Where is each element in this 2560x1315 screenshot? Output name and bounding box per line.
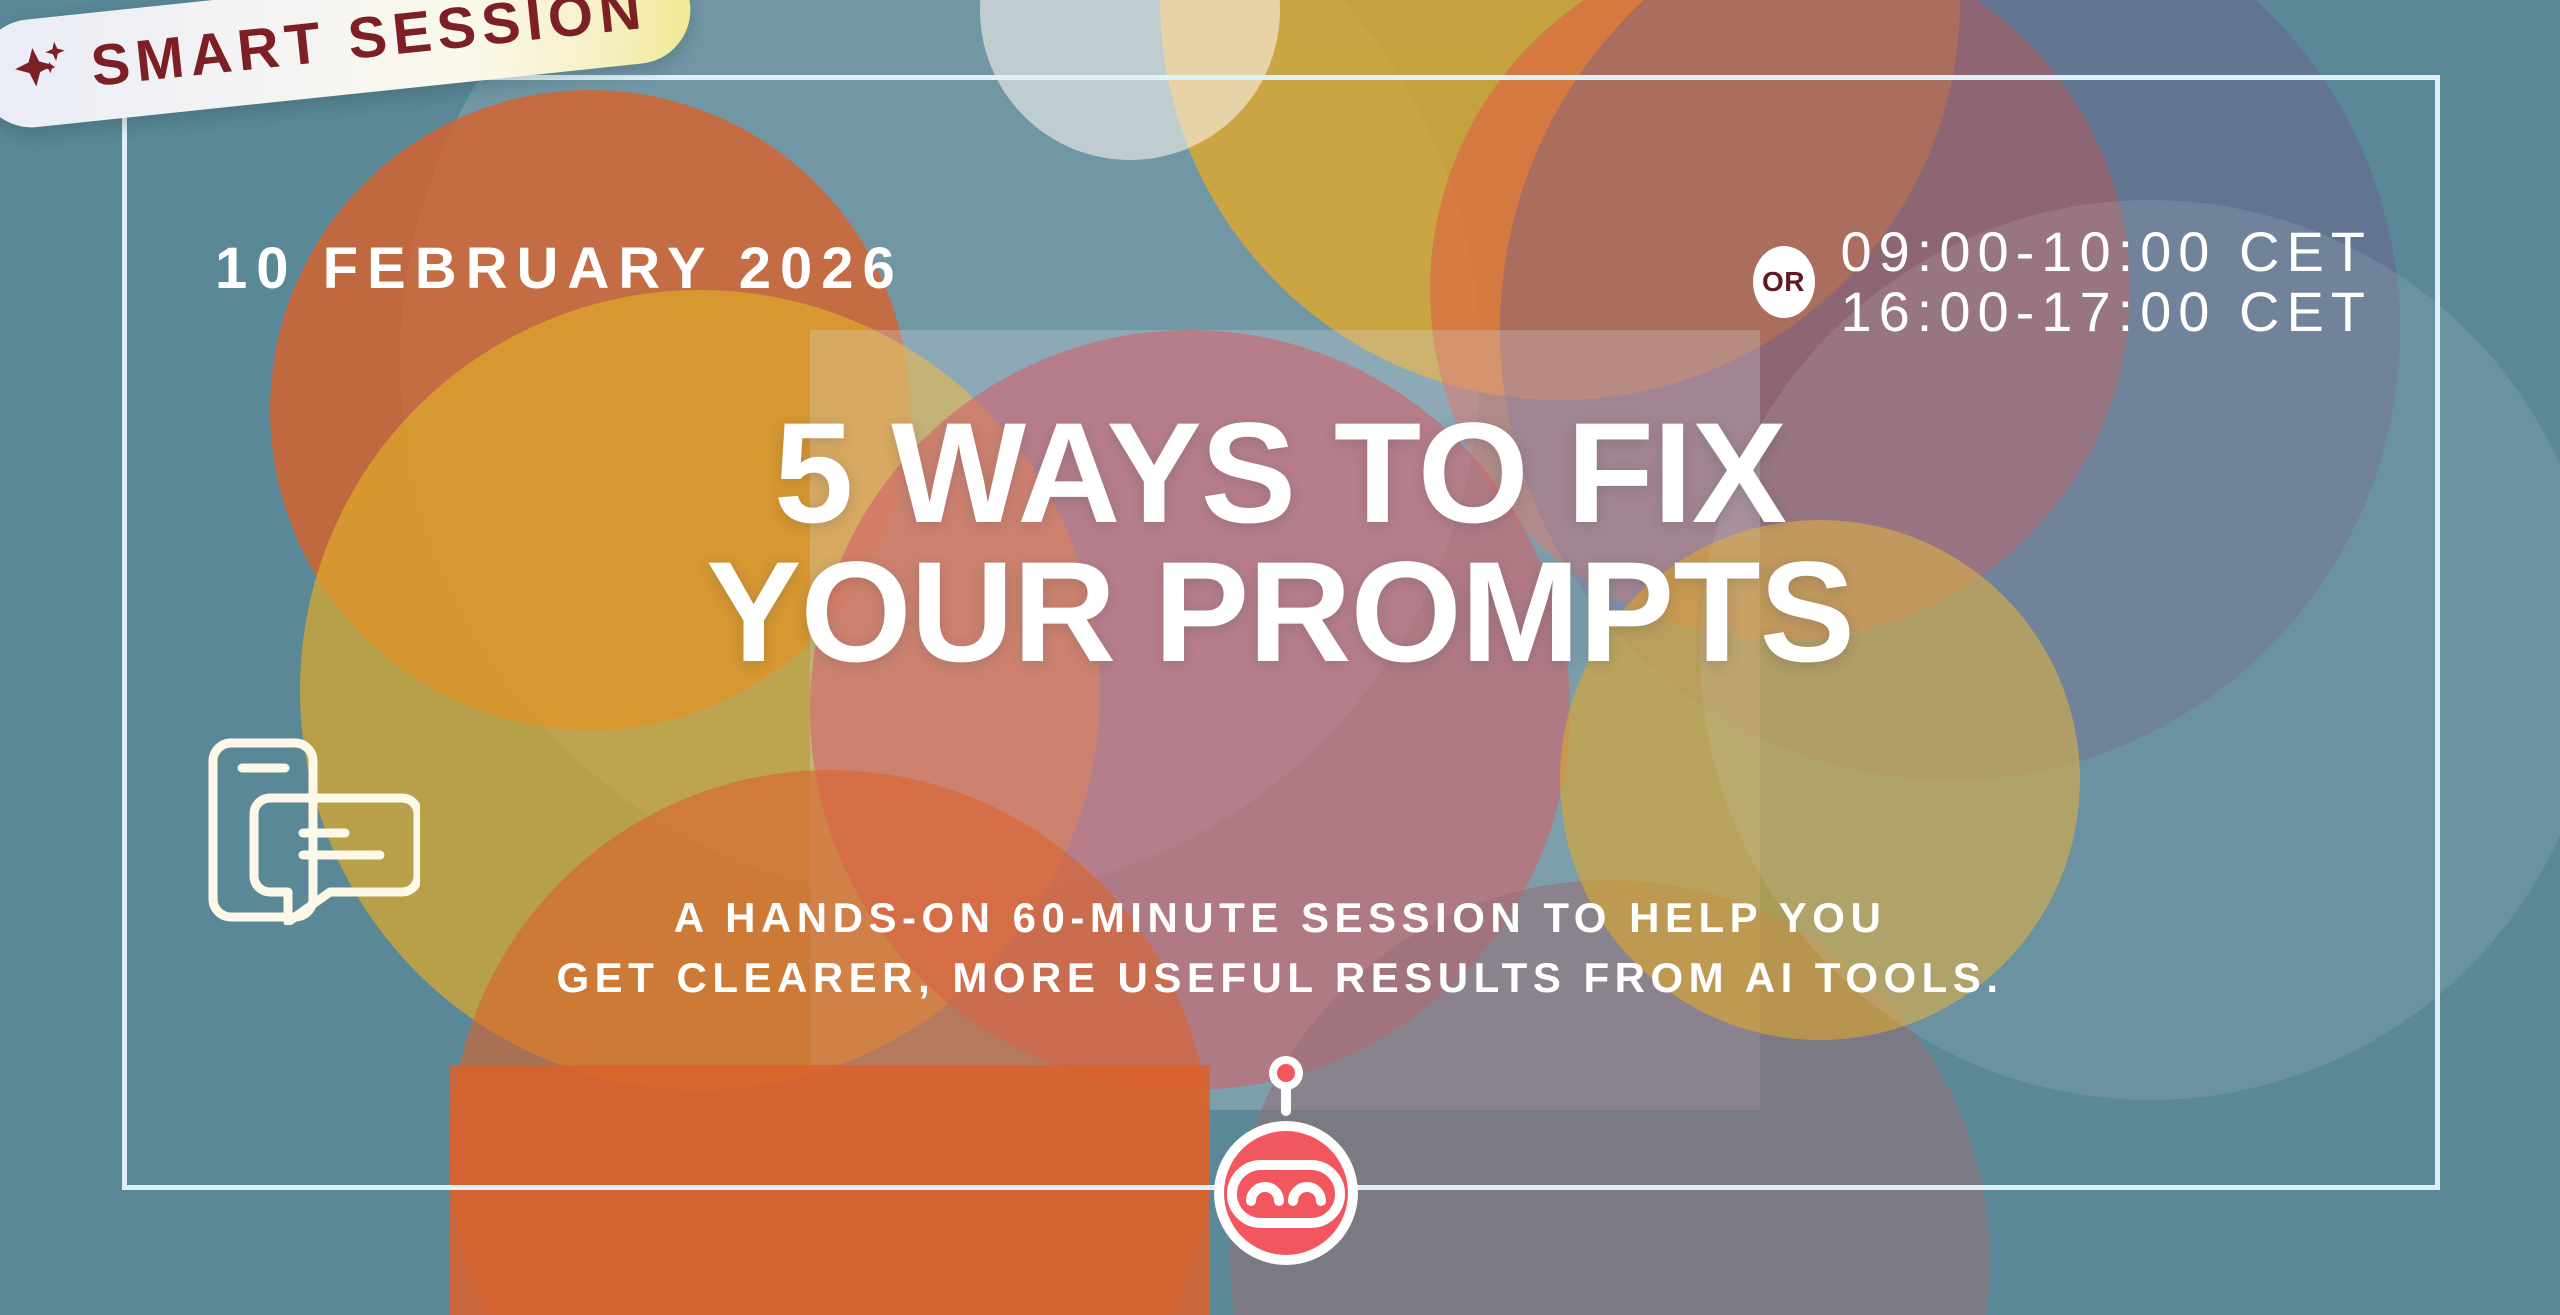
or-badge: OR xyxy=(1753,246,1815,318)
time-slot-1: 09:00-10:00 CET xyxy=(1841,222,2372,282)
subtitle-line-1: A HANDS-ON 60-MINUTE SESSION TO HELP YOU xyxy=(674,894,1887,941)
subtitle-line-2: GET CLEARER, MORE USEFUL RESULTS FROM AI… xyxy=(0,948,2560,1008)
subtitle: A HANDS-ON 60-MINUTE SESSION TO HELP YOU… xyxy=(0,888,2560,1007)
sparkle-icon xyxy=(9,38,77,106)
time-slot-list: 09:00-10:00 CET 16:00-17:00 CET xyxy=(1841,222,2372,343)
time-slot-2: 16:00-17:00 CET xyxy=(1841,282,2372,342)
event-time-block: OR 09:00-10:00 CET 16:00-17:00 CET xyxy=(1753,222,2372,343)
headline-line-1: 5 WAYS TO FIX xyxy=(774,394,1786,553)
event-date: 10 FEBRUARY 2026 xyxy=(215,240,904,298)
headline: 5 WAYS TO FIX YOUR PROMPTS xyxy=(0,405,2560,682)
headline-line-2: YOUR PROMPTS xyxy=(0,544,2560,683)
smart-session-banner: SMART SESSION 10 FEBRUARY 2026 OR 09:00-… xyxy=(0,0,2560,1315)
robot-icon xyxy=(1206,1055,1366,1275)
